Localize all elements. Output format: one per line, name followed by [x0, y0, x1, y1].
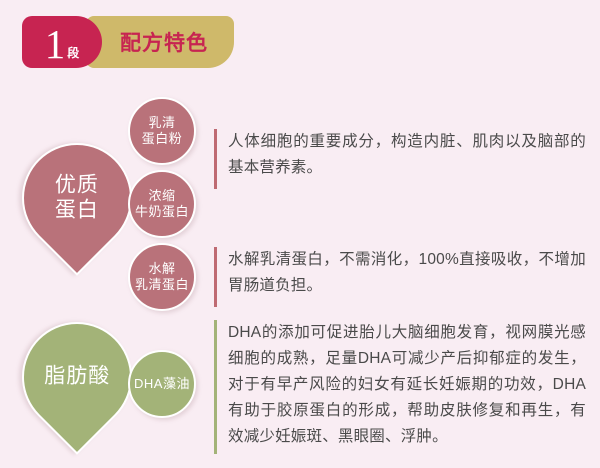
circle-hydrolyzed-whey-protein: 水解 乳清蛋白	[128, 243, 196, 311]
droplet-fatty-acid-label: 脂肪酸	[44, 365, 110, 390]
description-dha: DHA的添加可促进胎儿大脑细胞发育，视网膜光感细胞的成熟，足量DHA可减少产后抑…	[214, 320, 586, 454]
title-badge: 配方特色	[86, 16, 234, 68]
stage-badge: 1 段	[22, 16, 102, 68]
description-hydrolyzed-whey-text: 水解乳清蛋白，不需消化，100%直接吸收，不增加胃肠道负担。	[228, 247, 586, 299]
description-hydrolyzed-whey: 水解乳清蛋白，不需消化，100%直接吸收，不增加胃肠道负担。	[214, 247, 586, 307]
stage-number: 1	[45, 22, 66, 66]
circle-whey-protein-powder: 乳清 蛋白粉	[128, 97, 196, 165]
accent-bar-hydrolyzed-whey	[214, 247, 217, 307]
droplet-protein-label: 优质 蛋白	[55, 173, 99, 223]
description-protein-text: 人体细胞的重要成分，构造内脏、肌肉以及脑部的基本营养素。	[228, 129, 586, 181]
accent-bar-protein	[214, 129, 217, 189]
circle-whey-protein-powder-label: 乳清 蛋白粉	[142, 115, 183, 146]
header: 1 段 配方特色	[22, 16, 234, 68]
page-title: 配方特色	[120, 27, 208, 57]
description-dha-text: DHA的添加可促进胎儿大脑细胞发育，视网膜光感细胞的成熟，足量DHA可减少产后抑…	[228, 320, 586, 450]
circle-concentrated-milk-protein-label: 浓缩 牛奶蛋白	[135, 188, 189, 219]
accent-bar-dha	[214, 320, 217, 454]
description-protein: 人体细胞的重要成分，构造内脏、肌肉以及脑部的基本营养素。	[214, 129, 586, 189]
circle-dha-algae-oil: DHA藻油	[128, 350, 196, 418]
circle-dha-algae-oil-label: DHA藻油	[134, 376, 190, 392]
formula-features-infographic: 1 段 配方特色 优质 蛋白 脂肪酸 乳清 蛋白粉 浓缩 牛奶蛋白 水解 乳清蛋…	[0, 0, 600, 468]
circle-concentrated-milk-protein: 浓缩 牛奶蛋白	[128, 170, 196, 238]
stage-unit-label: 段	[67, 43, 79, 63]
circle-hydrolyzed-whey-protein-label: 水解 乳清蛋白	[135, 261, 189, 292]
